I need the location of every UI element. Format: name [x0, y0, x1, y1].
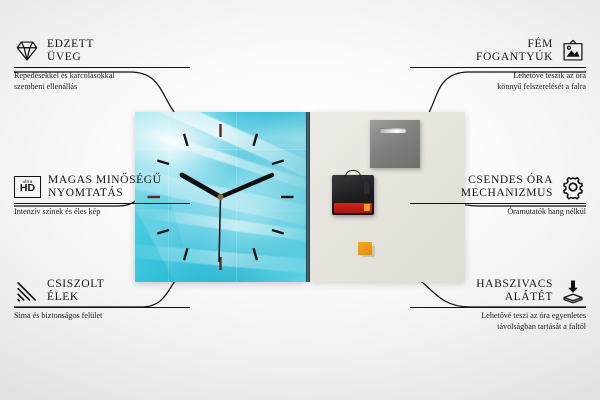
- clock-mechanism: [332, 175, 374, 215]
- feature-header: EDZETT ÜVEG: [14, 38, 190, 64]
- feature-tempered-glass: EDZETT ÜVEG Repedésekkel és karcolásokka…: [14, 38, 190, 92]
- feature-divider: [14, 203, 190, 204]
- feature-header: CSISZOLT ÉLEK: [14, 278, 190, 304]
- feature-header: ultra HD MAGAS MINŐSÉGŰ NYOMTATÁS: [14, 174, 190, 200]
- diamond-icon: [14, 38, 40, 64]
- infographic-canvas: EDZETT ÜVEG Repedésekkel és karcolásokka…: [0, 0, 600, 400]
- feature-polished-edges: CSISZOLT ÉLEK Sima és biztonságos felüle…: [14, 278, 190, 322]
- clock-second-hand: [219, 197, 221, 262]
- feature-divider: [410, 307, 586, 308]
- picture-hanger-icon: [560, 38, 586, 64]
- metal-hanger-plate: [370, 120, 420, 168]
- feature-description: Sima és biztonságos felület: [14, 311, 190, 322]
- foam-pad-icon: [560, 278, 586, 304]
- feature-description: Repedésekkel és karcolásokkal szembeni e…: [14, 71, 190, 92]
- mechanism-hanger-loop: [345, 170, 361, 178]
- feature-title: CSENDES ÓRA MECHANIZMUS: [461, 174, 553, 200]
- mechanism-dial: [364, 182, 369, 194]
- feature-divider: [14, 67, 190, 68]
- feature-description: Lehetővé teszik az óra könnyű felszerelé…: [410, 71, 586, 92]
- orange-foam-pad: [358, 242, 372, 255]
- feature-header: CSENDES ÓRA MECHANIZMUS: [410, 174, 586, 200]
- mechanism-label-mark: [364, 204, 370, 211]
- ultra-hd-icon: ultra HD: [14, 176, 41, 198]
- feature-title: MAGAS MINŐSÉGŰ NYOMTATÁS: [48, 174, 162, 200]
- polished-edges-icon: [14, 278, 40, 304]
- feature-divider: [410, 203, 586, 204]
- hanger-slot: [380, 128, 406, 133]
- feature-foam-pad: HABSZIVACS ALÁTÉT Lehetővé teszi az óra …: [410, 278, 586, 332]
- feature-title: EDZETT ÜVEG: [47, 38, 94, 64]
- feature-description: Intenzív színek és éles kép: [14, 207, 190, 218]
- clock-minute-hand: [221, 175, 273, 197]
- feature-description: Lehetővé teszi az óra egyenletes távolsá…: [410, 311, 586, 332]
- feature-title: FÉM FOGANTYÚK: [476, 38, 553, 64]
- feature-header: HABSZIVACS ALÁTÉT: [410, 278, 586, 304]
- gear-icon: [560, 174, 586, 200]
- feature-high-quality-print: ultra HD MAGAS MINŐSÉGŰ NYOMTATÁS Intenz…: [14, 174, 190, 217]
- feature-silent-clock-mechanism: CSENDES ÓRA MECHANIZMUS Óramutatók hang …: [410, 174, 586, 218]
- feature-title: CSISZOLT ÉLEK: [47, 278, 104, 304]
- feature-description: Óramutatók hang nélkül: [410, 207, 586, 218]
- feature-header: FÉM FOGANTYÚK: [410, 38, 586, 64]
- feature-title: HABSZIVACS ALÁTÉT: [476, 278, 553, 304]
- mechanism-label: [334, 203, 372, 213]
- feature-divider: [14, 307, 190, 308]
- feature-divider: [410, 67, 586, 68]
- feature-metal-handles: FÉM FOGANTYÚK Lehetővé teszik az óra kön…: [410, 38, 586, 92]
- clock-center-cap: [218, 194, 224, 200]
